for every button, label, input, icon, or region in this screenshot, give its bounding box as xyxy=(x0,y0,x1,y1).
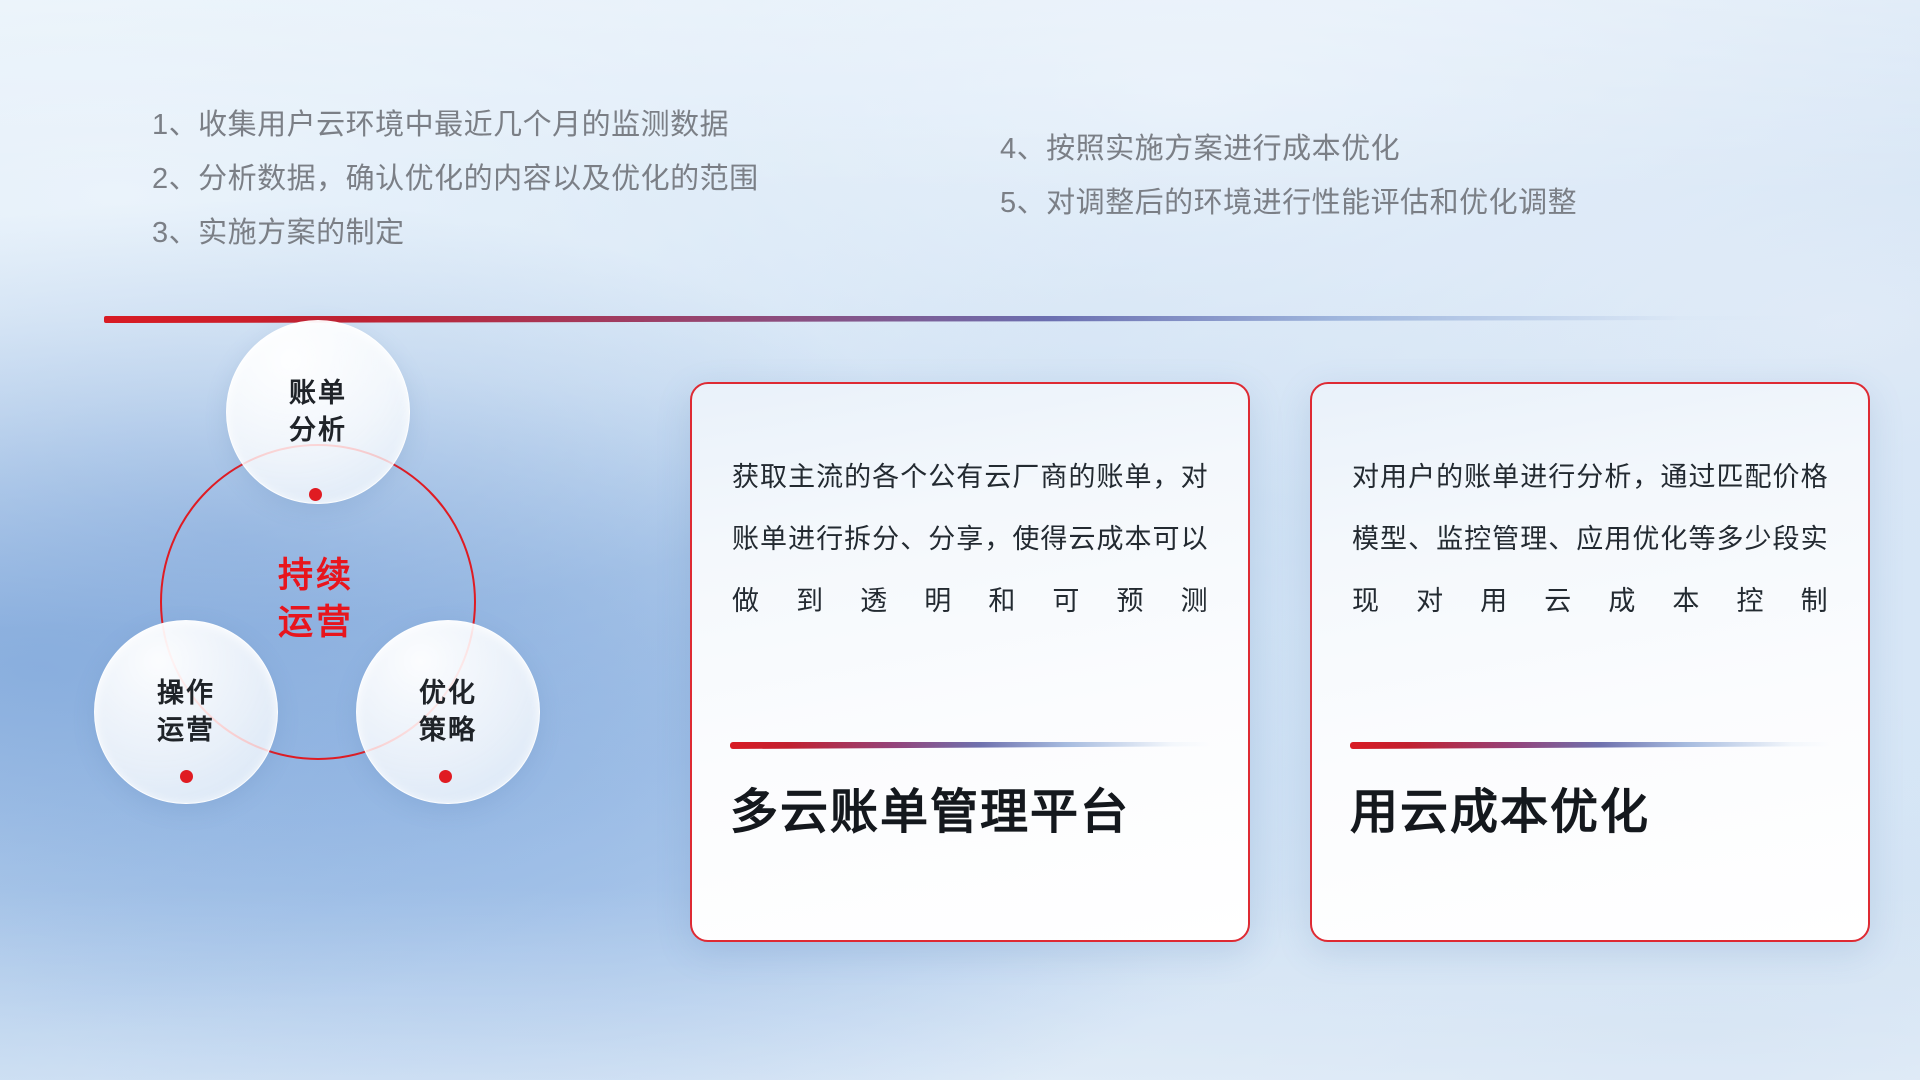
steps-left-column: 1、收集用户云环境中最近几个月的监测数据 2、分析数据，确认优化的内容以及优化的… xyxy=(152,98,759,260)
center-label: 持续 运营 xyxy=(278,553,354,647)
steps-section: 1、收集用户云环境中最近几个月的监测数据 2、分析数据，确认优化的内容以及优化的… xyxy=(0,0,1920,250)
circle-bill-analysis-line1: 账单 xyxy=(289,378,347,408)
card-multicloud-billing-title: 多云账单管理平台 xyxy=(730,784,1218,842)
step-item-3: 3、实施方案的制定 xyxy=(152,206,759,260)
card-multicloud-billing[interactable]: 获取主流的各个公有云厂商的账单，对账单进行拆分、分享，使得云成本可以做到透明和可… xyxy=(690,382,1250,942)
step-item-4: 4、按照实施方案进行成本优化 xyxy=(1000,122,1577,176)
card-cost-optimization-divider xyxy=(1350,742,1830,749)
card-cost-optimization[interactable]: 对用户的账单进行分析，通过匹配价格模型、监控管理、应用优化等多少段实现对用云成本… xyxy=(1310,382,1870,942)
step-item-1: 1、收集用户云环境中最近几个月的监测数据 xyxy=(152,98,759,152)
connector-dot-bottom-left xyxy=(180,770,193,783)
step-item-5: 5、对调整后的环境进行性能评估和优化调整 xyxy=(1000,176,1577,230)
circle-bill-analysis-label: 账单 分析 xyxy=(289,375,347,450)
card-multicloud-billing-body: 获取主流的各个公有云厂商的账单，对账单进行拆分、分享，使得云成本可以做到透明和可… xyxy=(732,446,1208,632)
circle-bill-analysis-line2: 分析 xyxy=(289,415,347,445)
center-label-line2: 运营 xyxy=(278,603,354,642)
steps-right-column: 4、按照实施方案进行成本优化 5、对调整后的环境进行性能评估和优化调整 xyxy=(1000,122,1577,230)
continuous-operation-diagram: 账单 分析 操作 运营 优化 策略 持续 运营 xyxy=(100,340,620,940)
step-item-2: 2、分析数据，确认优化的内容以及优化的范围 xyxy=(152,152,759,206)
card-cost-optimization-title: 用云成本优化 xyxy=(1350,784,1838,842)
connector-dot-top xyxy=(309,488,322,501)
center-label-line1: 持续 xyxy=(278,556,354,595)
connector-dot-bottom-right xyxy=(439,770,452,783)
card-multicloud-billing-divider xyxy=(730,742,1210,749)
card-cost-optimization-body: 对用户的账单进行分析，通过匹配价格模型、监控管理、应用优化等多少段实现对用云成本… xyxy=(1352,446,1828,632)
